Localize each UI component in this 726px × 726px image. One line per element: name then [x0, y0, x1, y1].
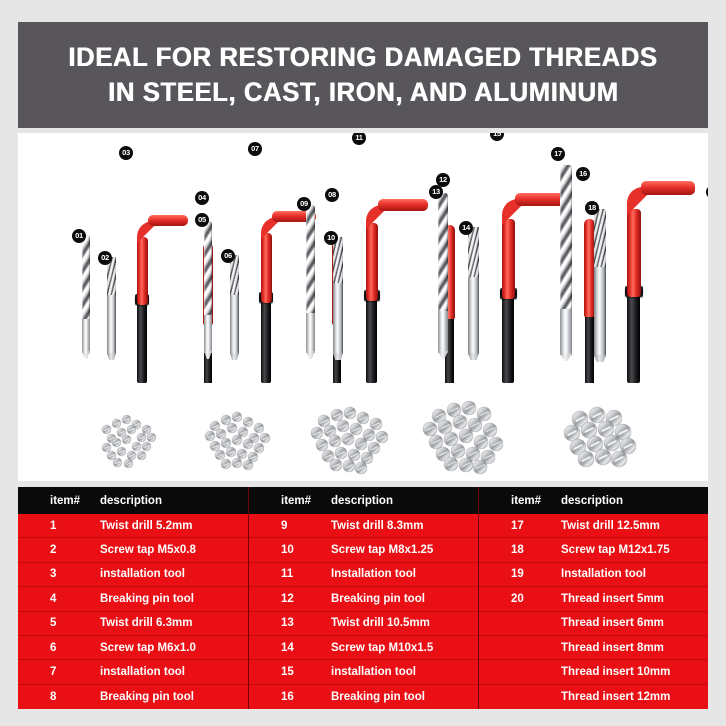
cell-description: Screw tap M10x1.5 [319, 642, 433, 654]
infographic-page: IDEAL FOR RESTORING DAMAGED THREADS IN S… [0, 0, 726, 726]
installation-tool-19 [616, 151, 706, 383]
screw-tap-18 [594, 209, 606, 357]
cell-description: installation tool [88, 666, 185, 678]
screw-tap-10 [333, 237, 343, 355]
table-row: 1 Twist drill 5.2mm [18, 514, 248, 538]
header-banner: IDEAL FOR RESTORING DAMAGED THREADS IN S… [18, 22, 708, 128]
cell-description: Installation tool [549, 568, 646, 580]
badge-15: 15 [490, 133, 504, 141]
table-row: 10 Screw tap M8x1.25 [249, 538, 478, 562]
cell-item: 7 [18, 666, 88, 678]
header-title-line-2: IN STEEL, CAST, IRON, AND ALUMINUM [108, 75, 619, 110]
cell-item: 20 [479, 593, 549, 605]
tool-group-m5: 01 02 03 04 [58, 133, 178, 383]
table-header-row: item# description [18, 487, 248, 514]
cell-description: Screw tap M12x1.75 [549, 544, 670, 556]
cell-item: 12 [249, 593, 319, 605]
table-row: 5 Twist drill 6.3mm [18, 612, 248, 636]
cell-description: Thread insert 12mm [549, 691, 670, 703]
table-header-row: item# description [249, 487, 478, 514]
cell-description: Breaking pin tool [319, 593, 425, 605]
badge-01: 01 [72, 229, 86, 243]
table-row: 12 Breaking pin tool [249, 587, 478, 611]
column-header-description: description [319, 495, 393, 507]
screw-tap-14 [468, 227, 479, 355]
table-row: 4 Breaking pin tool [18, 587, 248, 611]
table-row: 7 installation tool [18, 660, 248, 684]
badge-13: 13 [429, 185, 443, 199]
table-row: 14 Screw tap M10x1.5 [249, 636, 478, 660]
tool-group-m10: 13 14 15 16 [416, 133, 551, 383]
table-row: 19 Installation tool [479, 563, 708, 587]
cell-description: Twist drill 12.5mm [549, 520, 660, 532]
table-row: 11 Installation tool [249, 563, 478, 587]
badge-07: 07 [248, 142, 262, 156]
cell-description: Screw tap M6x1.0 [88, 642, 196, 654]
badge-03: 03 [119, 146, 133, 160]
product-photo-panel: 01 02 03 04 [18, 133, 708, 481]
thread-insert-pile-6mm [200, 409, 292, 473]
table-column-2: item# description 9 Twist drill 8.3mm 10… [248, 487, 478, 709]
table-row: 13 Twist drill 10.5mm [249, 612, 478, 636]
tool-group-m8: 09 10 11 12 [286, 133, 416, 383]
cell-item: 14 [249, 642, 319, 654]
cell-description: Twist drill 8.3mm [319, 520, 423, 532]
twist-drill-09 [306, 205, 315, 353]
badge-02: 02 [98, 251, 112, 265]
badge-17: 17 [551, 147, 565, 161]
table-row: 20 Thread insert 5mm [479, 587, 708, 611]
cell-item: 9 [249, 520, 319, 532]
cell-item: 19 [479, 568, 549, 580]
cell-item: 15 [249, 666, 319, 678]
cell-item: 17 [479, 520, 549, 532]
table-row: 2 Screw tap M5x0.8 [18, 538, 248, 562]
tool-group-m12: 17 18 19 20 [538, 133, 698, 383]
column-header-description: description [88, 495, 162, 507]
cell-description: Breaking pin tool [88, 593, 194, 605]
badge-06: 06 [221, 249, 235, 263]
table-header-row: item# description [479, 487, 708, 514]
cell-item: 2 [18, 544, 88, 556]
thread-insert-pile-10mm [418, 401, 523, 473]
cell-description: installation tool [319, 666, 416, 678]
table-row: 8 Breaking pin tool [18, 685, 248, 709]
column-header-item: item# [18, 495, 88, 507]
table-row: 16 Breaking pin tool [249, 685, 478, 709]
table-row: 17 Twist drill 12.5mm [479, 514, 708, 538]
cell-description: Twist drill 5.2mm [88, 520, 192, 532]
specification-table: item# description 1 Twist drill 5.2mm 2 … [18, 487, 708, 709]
screw-tap-02 [107, 257, 116, 355]
table-row: 3 installation tool [18, 563, 248, 587]
twist-drill-17 [560, 165, 572, 355]
cell-item: 10 [249, 544, 319, 556]
badge-04: 04 [195, 191, 209, 205]
badge-08: 08 [325, 188, 339, 202]
thread-insert-pile-12mm [558, 401, 658, 473]
cell-item: 11 [249, 568, 319, 580]
badge-09: 09 [297, 197, 311, 211]
twist-drill-01 [82, 235, 90, 353]
cell-item: 6 [18, 642, 88, 654]
badge-14: 14 [459, 221, 473, 235]
badge-10: 10 [324, 231, 338, 245]
cell-description: Screw tap M8x1.25 [319, 544, 433, 556]
table-row: Thread insert 8mm [479, 636, 708, 660]
table-column-3: item# description 17 Twist drill 12.5mm … [478, 487, 708, 709]
cell-item: 18 [479, 544, 549, 556]
thread-insert-pile-5mm [96, 411, 182, 473]
badge-11: 11 [352, 133, 366, 145]
cell-item: 16 [249, 691, 319, 703]
badge-18: 18 [585, 201, 599, 215]
cell-item: 1 [18, 520, 88, 532]
cell-description: Breaking pin tool [319, 691, 425, 703]
cell-description: Thread insert 8mm [549, 642, 664, 654]
cell-description: Breaking pin tool [88, 691, 194, 703]
cell-description: Twist drill 6.3mm [88, 617, 192, 629]
twist-drill-05 [204, 221, 212, 353]
cell-description: Screw tap M5x0.8 [88, 544, 196, 556]
cell-item: 5 [18, 617, 88, 629]
cell-description: Thread insert 6mm [549, 617, 664, 629]
table-row: Thread insert 10mm [479, 660, 708, 684]
cell-item: 13 [249, 617, 319, 629]
column-header-item: item# [479, 495, 549, 507]
table-row: Thread insert 6mm [479, 612, 708, 636]
column-header-item: item# [249, 495, 319, 507]
cell-description: Installation tool [319, 568, 416, 580]
column-header-description: description [549, 495, 623, 507]
cell-description: installation tool [88, 568, 185, 580]
thread-insert-pile-8mm [306, 405, 406, 473]
cell-description: Thread insert 5mm [549, 593, 664, 605]
table-column-1: item# description 1 Twist drill 5.2mm 2 … [18, 487, 248, 709]
badge-05: 05 [195, 213, 209, 227]
table-row: 18 Screw tap M12x1.75 [479, 538, 708, 562]
badge-16: 16 [576, 167, 590, 181]
cell-description: Twist drill 10.5mm [319, 617, 430, 629]
header-title-line-1: IDEAL FOR RESTORING DAMAGED THREADS [68, 40, 657, 75]
cell-item: 8 [18, 691, 88, 703]
cell-item: 4 [18, 593, 88, 605]
table-row: 6 Screw tap M6x1.0 [18, 636, 248, 660]
cell-item: 3 [18, 568, 88, 580]
twist-drill-13 [438, 193, 448, 353]
table-row: 15 installation tool [249, 660, 478, 684]
screw-tap-06 [230, 255, 239, 355]
table-row: 9 Twist drill 8.3mm [249, 514, 478, 538]
cell-description: Thread insert 10mm [549, 666, 670, 678]
badge-20: 20 [706, 185, 708, 199]
table-row: Thread insert 12mm [479, 685, 708, 709]
